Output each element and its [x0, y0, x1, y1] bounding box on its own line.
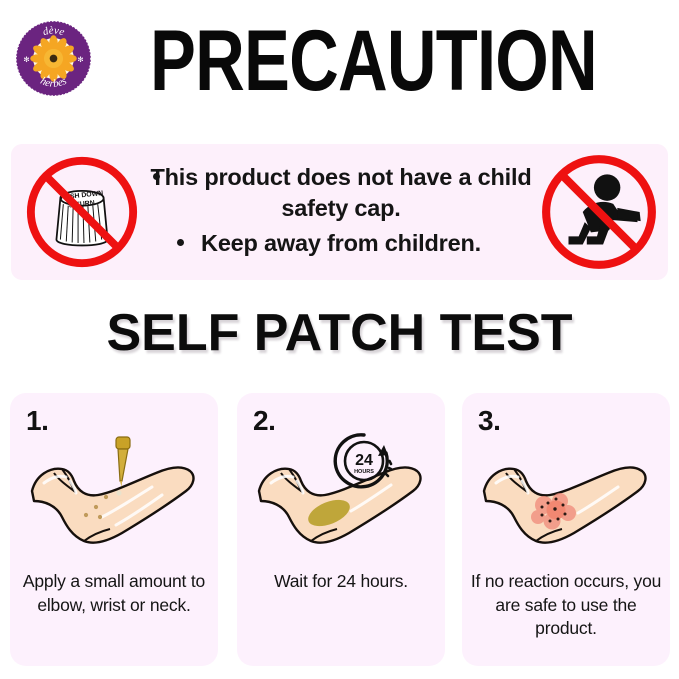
timer-unit: HOURS: [354, 469, 374, 475]
brand-logo: dève herbes ✻ ✻: [12, 17, 95, 100]
svg-text:✻: ✻: [77, 55, 83, 64]
precaution-item-2-text: Keep away from children.: [201, 230, 481, 256]
no-child-safety-cap-icon: PUSH DOWN & TURN: [23, 153, 141, 271]
precaution-item-1-text: This product does not have a child safet…: [151, 164, 532, 221]
page-title: PRECAUTION: [150, 17, 470, 107]
precaution-item-2: Keep away from children.: [141, 228, 541, 259]
step-caption-3: If no reaction occurs, you are safe to u…: [470, 570, 662, 641]
precaution-list: This product does not have a child safet…: [141, 162, 541, 263]
step-caption-1: Apply a small amount to elbow, wrist or …: [18, 570, 210, 617]
elbow-with-24-hour-timer-icon: 24 HOURS: [237, 429, 445, 559]
page-header: dève herbes ✻ ✻ PRECAUTION: [0, 0, 679, 136]
bullet-icon: [153, 173, 160, 180]
timer-value: 24: [355, 452, 373, 469]
elbow-with-rash-icon: [462, 429, 670, 559]
bullet-icon: [177, 239, 184, 246]
step-caption-2: Wait for 24 hours.: [245, 570, 437, 594]
no-children-icon: [538, 151, 660, 273]
patch-test-step-card-1: 1.: [10, 393, 218, 666]
precaution-item-1: This product does not have a child safet…: [141, 162, 541, 224]
section-heading: SELF PATCH TEST: [0, 303, 679, 363]
svg-text:✻: ✻: [23, 55, 29, 64]
patch-test-step-card-3: 3.: [462, 393, 670, 666]
patch-test-steps: 1.: [0, 393, 679, 666]
prohibition-sign-icon: [31, 161, 133, 263]
crawling-baby-icon: [569, 174, 641, 244]
elbow-with-dropper-icon: [10, 429, 218, 559]
patch-test-step-card-2: 2.: [237, 393, 445, 666]
precaution-banner: PUSH DOWN & TURN This product does not h…: [11, 144, 668, 280]
